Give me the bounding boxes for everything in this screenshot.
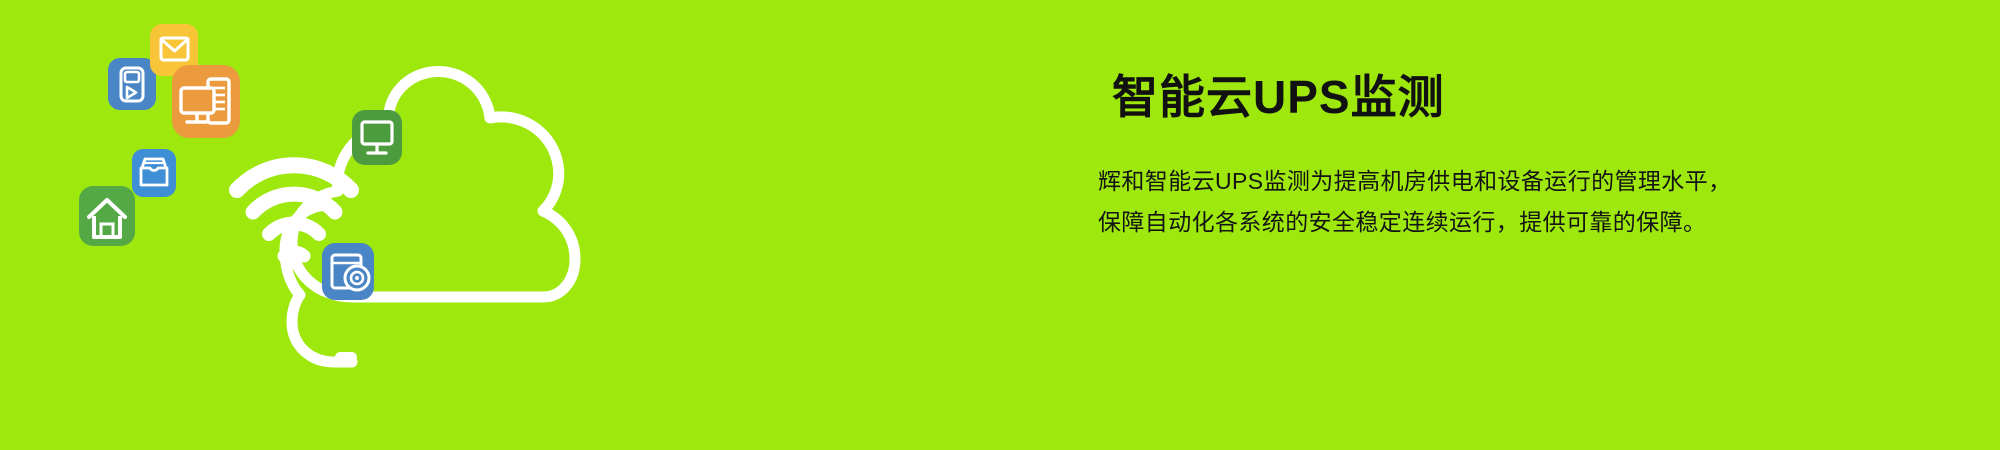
banner-text: 智能云UPS监测 辉和智能云UPS监测为提高机房供电和设备运行的管理水平， 保障… xyxy=(1098,72,1968,234)
page-title: 智能云UPS监测 xyxy=(1112,72,1968,124)
mobile-player-icon xyxy=(108,58,156,110)
description-block: 辉和智能云UPS监测为提高机房供电和设备运行的管理水平， 保障自动化各系统的安全… xyxy=(1098,170,1968,234)
display-icon xyxy=(352,110,402,165)
promo-banner: 智能云UPS监测 辉和智能云UPS监测为提高机房供电和设备运行的管理水平， 保障… xyxy=(0,0,2000,450)
device-camera-icon xyxy=(322,243,374,300)
monitor-server-icon xyxy=(172,65,240,138)
inbox-icon xyxy=(132,149,176,197)
description-line-2: 保障自动化各系统的安全稳定连续运行，提供可靠的保障。 xyxy=(1098,211,1968,234)
cloud-illustration xyxy=(0,0,900,450)
description-line-1: 辉和智能云UPS监测为提高机房供电和设备运行的管理水平， xyxy=(1098,170,1968,193)
home-icon xyxy=(79,186,135,246)
